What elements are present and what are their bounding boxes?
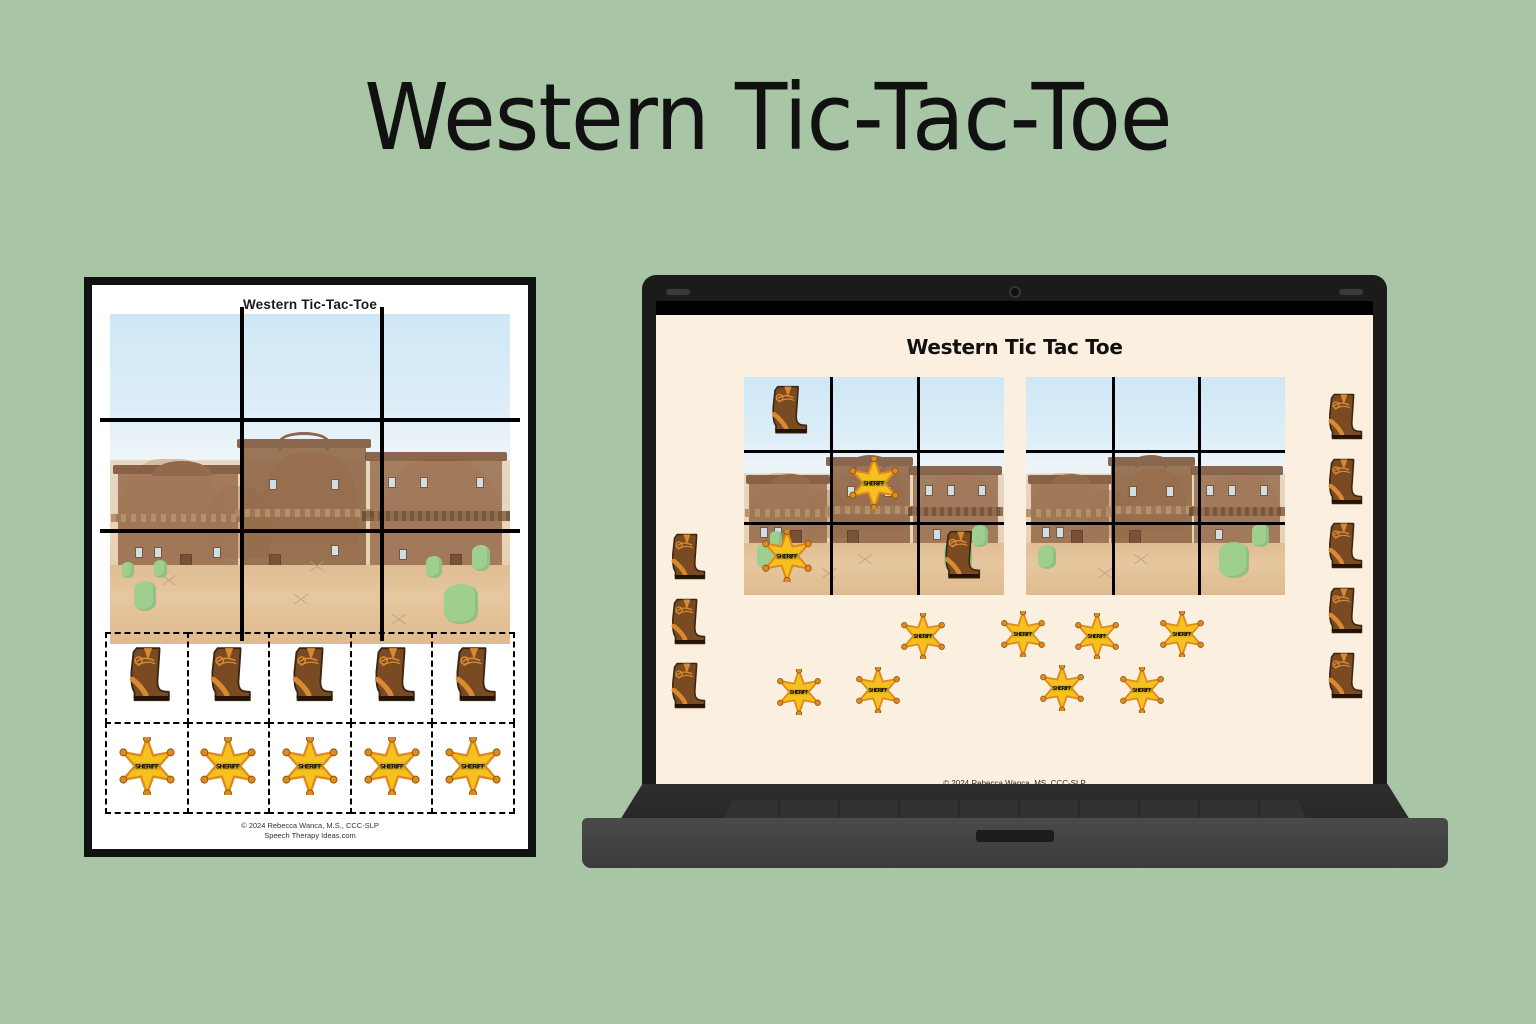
badge-piece-pool: SHERIFF SHERIFF SHERIFF SHERIFF SHERIFF … xyxy=(766,607,1263,727)
tic-tac-toe-boards: SHERIFF SHERIFF xyxy=(744,377,1285,595)
board-cell[interactable] xyxy=(1026,522,1113,595)
worksheet-cut-out-cards: SHERIFF SHERIFF SHERIFF SHERIFF SHERIFF xyxy=(106,633,514,813)
board-cell[interactable] xyxy=(1112,377,1199,450)
sheriff-badge-icon[interactable]: SHERIFF xyxy=(848,457,900,514)
laptop-screen: Western Tic Tac Toe xyxy=(656,301,1373,806)
cowboy-boot-icon[interactable] xyxy=(764,383,810,444)
cowboy-boot-icon[interactable] xyxy=(664,531,708,590)
browser-top-bar xyxy=(656,301,1373,315)
sheriff-badge-icon: SHERIFF xyxy=(281,737,339,800)
sheriff-badge-icon[interactable]: SHERIFF xyxy=(1119,667,1165,718)
sheriff-badge-icon[interactable]: SHERIFF xyxy=(1000,611,1046,662)
svg-text:SHERIFF: SHERIFF xyxy=(1172,632,1192,638)
laptop-front-edge xyxy=(582,818,1448,868)
board-cell[interactable] xyxy=(744,377,831,450)
cut-card[interactable] xyxy=(187,632,271,724)
sheriff-badge-icon: SHERIFF xyxy=(363,737,421,800)
sheriff-badge-icon[interactable]: SHERIFF xyxy=(1074,613,1120,664)
board-cell[interactable] xyxy=(1026,377,1113,450)
cowboy-boot-icon[interactable] xyxy=(1321,650,1365,709)
svg-text:SHERIFF: SHERIFF xyxy=(1013,632,1033,638)
cowboy-boot-icon[interactable] xyxy=(664,596,708,655)
cut-card[interactable]: SHERIFF xyxy=(187,722,271,814)
svg-text:SHERIFF: SHERIFF xyxy=(776,554,798,560)
sheriff-badge-icon[interactable]: SHERIFF xyxy=(1039,665,1085,716)
worksheet-credit-line-1: © 2024 Rebecca Wanca, M.S., CCC-SLP xyxy=(92,821,528,831)
activity-title: Western Tic Tac Toe xyxy=(656,335,1373,359)
cowboy-boot-icon xyxy=(447,644,499,712)
printed-worksheet: Western Tic-Tac-Toe xyxy=(84,277,536,857)
board-cell[interactable] xyxy=(1199,377,1286,450)
board-cell[interactable] xyxy=(917,377,1004,450)
board-cell[interactable] xyxy=(1199,450,1286,523)
svg-text:SHERIFF: SHERIFF xyxy=(298,762,322,770)
worksheet-title: Western Tic-Tac-Toe xyxy=(102,293,518,312)
svg-text:SHERIFF: SHERIFF xyxy=(135,762,159,770)
cut-card[interactable]: SHERIFF xyxy=(431,722,515,814)
board-right[interactable] xyxy=(1026,377,1286,595)
board-cell[interactable]: SHERIFF xyxy=(831,450,918,523)
svg-text:SHERIFF: SHERIFF xyxy=(789,690,809,696)
boot-piece-column-left xyxy=(664,531,708,719)
worksheet-credit: © 2024 Rebecca Wanca, M.S., CCC-SLP Spee… xyxy=(92,821,528,841)
sheriff-badge-icon[interactable]: SHERIFF xyxy=(1159,611,1205,662)
cowboy-boot-icon xyxy=(202,644,254,712)
sheriff-badge-icon: SHERIFF xyxy=(118,737,176,800)
cut-card[interactable] xyxy=(350,632,434,724)
worksheet-western-scene xyxy=(110,314,510,644)
board-cell[interactable] xyxy=(1112,522,1199,595)
board-cell[interactable] xyxy=(1112,450,1199,523)
cowboy-boot-icon[interactable] xyxy=(937,528,983,589)
cowboy-boot-icon[interactable] xyxy=(1321,585,1365,644)
svg-text:SHERIFF: SHERIFF xyxy=(216,762,240,770)
sheriff-badge-icon: SHERIFF xyxy=(199,737,257,800)
laptop-device: Western Tic Tac Toe xyxy=(570,275,1460,880)
activity-canvas: Western Tic Tac Toe xyxy=(656,315,1373,806)
cut-card[interactable] xyxy=(105,632,189,724)
page-title: Western Tic-Tac-Toe xyxy=(54,72,1482,164)
speaker-grille-right-icon xyxy=(1339,289,1363,295)
webcam-icon xyxy=(1009,286,1021,298)
cowboy-boot-icon xyxy=(284,644,336,712)
board-left-cells: SHERIFF SHERIFF xyxy=(744,377,1004,595)
cut-card[interactable]: SHERIFF xyxy=(268,722,352,814)
sheriff-badge-icon: SHERIFF xyxy=(444,737,502,800)
board-cell[interactable] xyxy=(1026,450,1113,523)
worksheet-credit-line-2: Speech Therapy Ideas.com xyxy=(92,831,528,841)
cut-card[interactable]: SHERIFF xyxy=(105,722,189,814)
sheriff-badge-icon[interactable]: SHERIFF xyxy=(900,613,946,664)
cowboy-boot-icon[interactable] xyxy=(1321,520,1365,579)
board-cell[interactable] xyxy=(917,450,1004,523)
cowboy-boot-icon xyxy=(121,644,173,712)
board-left[interactable]: SHERIFF SHERIFF xyxy=(744,377,1004,595)
cowboy-boot-icon[interactable] xyxy=(1321,456,1365,515)
svg-text:SHERIFF: SHERIFF xyxy=(1053,686,1073,692)
sheriff-badge-icon[interactable]: SHERIFF xyxy=(855,667,901,718)
speaker-grille-left-icon xyxy=(666,289,690,295)
svg-text:SHERIFF: SHERIFF xyxy=(869,688,889,694)
svg-text:SHERIFF: SHERIFF xyxy=(863,482,885,488)
svg-text:SHERIFF: SHERIFF xyxy=(379,762,403,770)
board-right-cells xyxy=(1026,377,1286,595)
cut-card-row-boots xyxy=(106,633,514,723)
board-cell[interactable] xyxy=(831,522,918,595)
board-cell[interactable] xyxy=(1199,522,1286,595)
svg-text:SHERIFF: SHERIFF xyxy=(914,634,934,640)
svg-text:SHERIFF: SHERIFF xyxy=(1132,688,1152,694)
trackpad-notch[interactable] xyxy=(976,830,1054,842)
sheriff-badge-icon[interactable]: SHERIFF xyxy=(761,530,813,587)
hotel-building xyxy=(242,446,366,571)
sheriff-badge-icon[interactable]: SHERIFF xyxy=(776,669,822,720)
board-cell[interactable] xyxy=(744,450,831,523)
svg-text:SHERIFF: SHERIFF xyxy=(461,762,485,770)
saloon-building xyxy=(118,472,238,571)
svg-text:SHERIFF: SHERIFF xyxy=(1087,634,1107,640)
board-cell[interactable]: SHERIFF xyxy=(744,522,831,595)
cowboy-boot-icon xyxy=(366,644,418,712)
cut-card[interactable]: SHERIFF xyxy=(350,722,434,814)
worksheet-page: Western Tic-Tac-Toe xyxy=(92,285,528,849)
laptop-base xyxy=(570,784,1460,880)
cut-card[interactable] xyxy=(431,632,515,724)
board-cell[interactable] xyxy=(917,522,1004,595)
laptop-lid: Western Tic Tac Toe xyxy=(642,275,1387,820)
cowboy-boot-icon[interactable] xyxy=(1321,391,1365,450)
board-cell[interactable] xyxy=(831,377,918,450)
cut-card[interactable] xyxy=(268,632,352,724)
cut-card-row-badges: SHERIFF SHERIFF SHERIFF SHERIFF SHERIFF xyxy=(106,723,514,813)
boot-piece-column-right xyxy=(1321,391,1365,708)
cowboy-boot-icon[interactable] xyxy=(664,660,708,719)
